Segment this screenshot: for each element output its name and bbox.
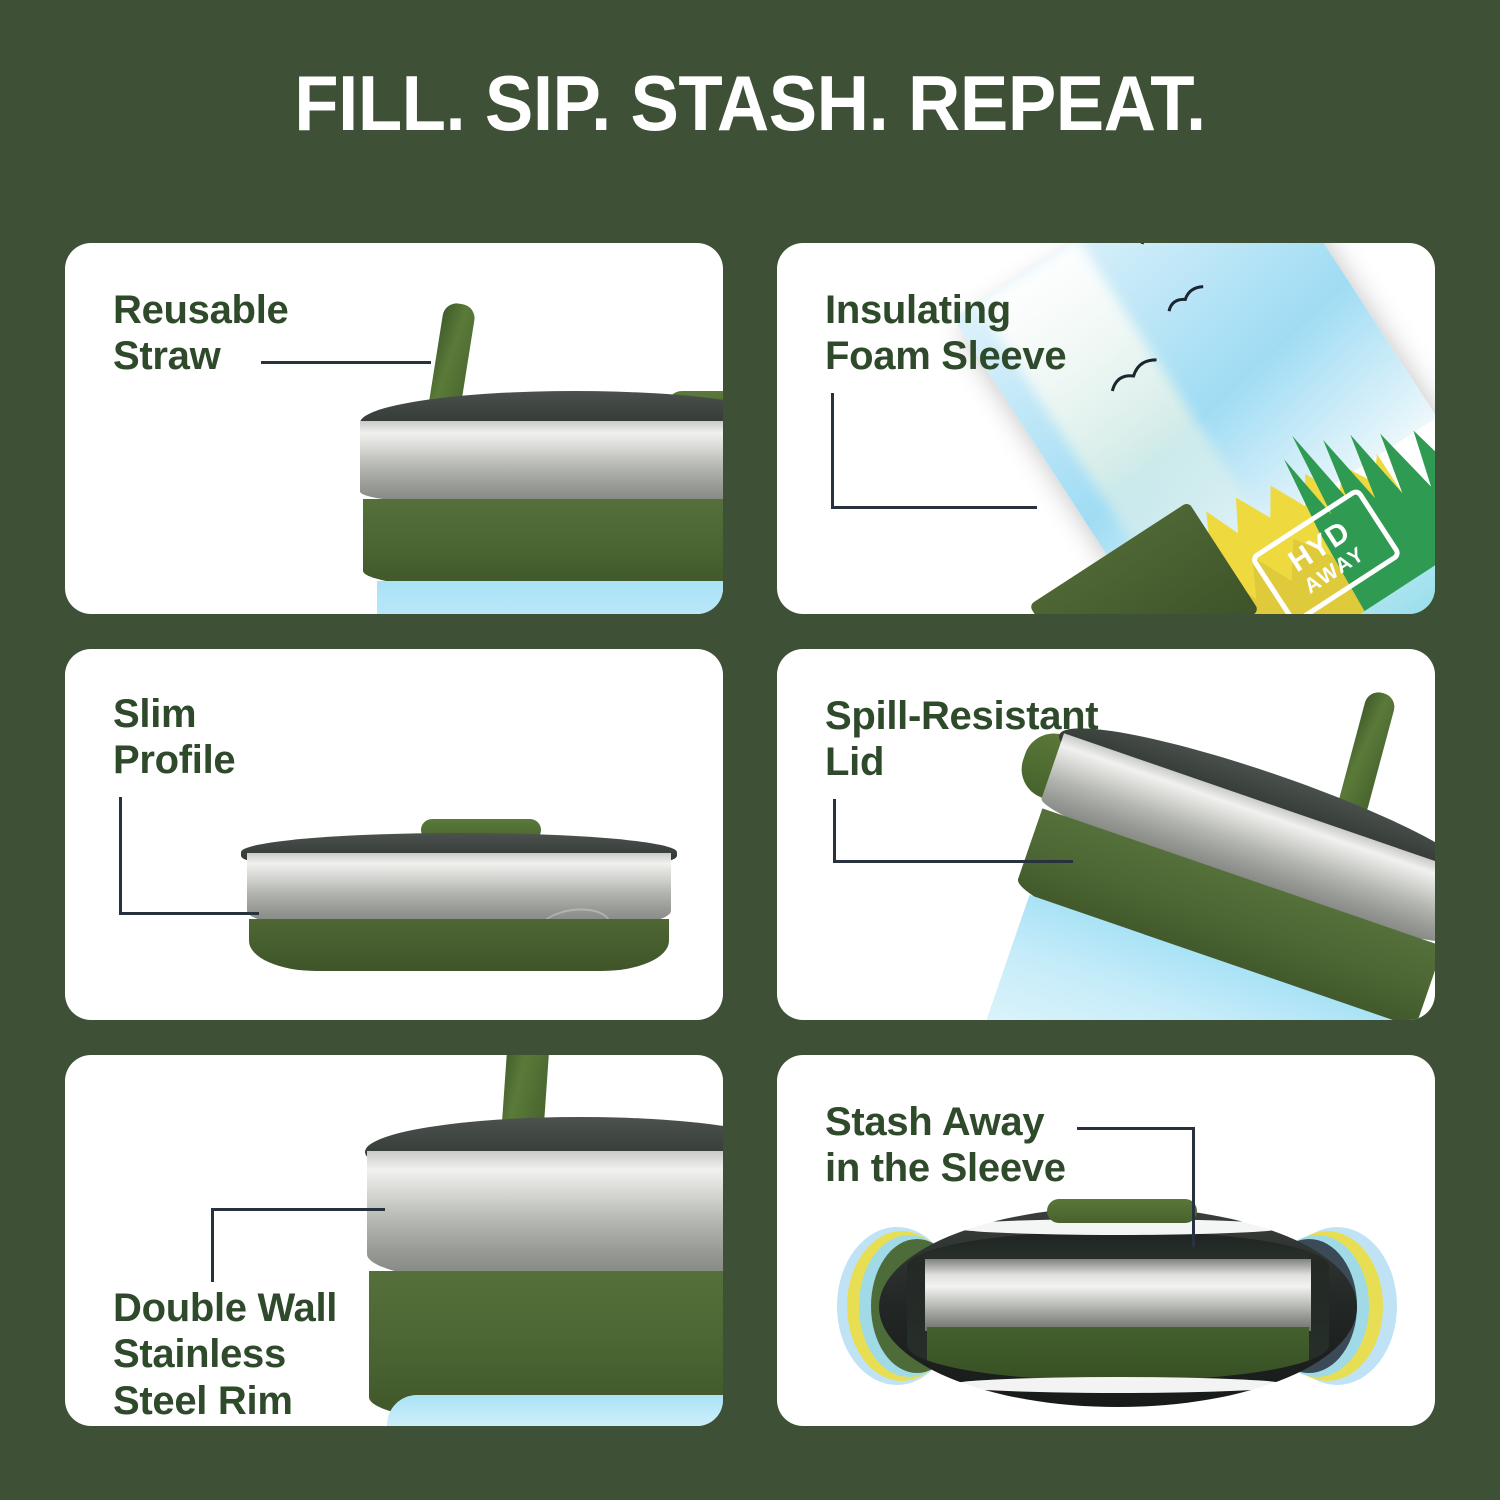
green-base xyxy=(927,1327,1309,1381)
steel-rim-band xyxy=(367,1151,723,1283)
feature-card-spill-resistant-lid[interactable]: Spill-Resistant Lid xyxy=(777,649,1435,1020)
steel-rim-band xyxy=(925,1259,1311,1331)
feature-card-insulating-foam-sleeve[interactable]: HYD AWAY Insulating Foam Sleeve xyxy=(777,243,1435,614)
tumbler-body xyxy=(387,1395,723,1426)
collapsed-puck xyxy=(907,1231,1329,1381)
feature-card-reusable-straw[interactable]: Reusable Straw xyxy=(65,243,723,614)
feature-label-stash-away-sleeve: Stash Away in the Sleeve xyxy=(825,1099,1066,1192)
product-feature-infographic: FILL. SIP. STASH. REPEAT. Reu xyxy=(0,0,1500,1500)
leader-line-spill-resistant-lid xyxy=(833,799,1073,863)
steel-rim-band xyxy=(360,421,723,507)
feature-label-double-wall-rim: Double Wall Stainless Steel Rim xyxy=(113,1285,337,1424)
feature-label-slim-profile: Slim Profile xyxy=(113,691,235,784)
green-collar xyxy=(363,499,723,591)
feature-card-stash-away-sleeve[interactable]: Stash Away in the Sleeve xyxy=(777,1055,1435,1426)
collapsed-puck xyxy=(241,819,677,965)
steel-rim-band xyxy=(247,853,671,927)
green-base xyxy=(249,919,669,971)
leader-line-insulating-foam-sleeve xyxy=(831,393,1037,509)
page-title: FILL. SIP. STASH. REPEAT. xyxy=(53,58,1448,149)
tumbler-body xyxy=(377,581,723,614)
leader-line-double-wall-rim xyxy=(211,1208,385,1282)
feature-label-insulating-foam-sleeve: Insulating Foam Sleeve xyxy=(825,287,1066,380)
feature-card-slim-profile[interactable]: Slim Profile xyxy=(65,649,723,1020)
feature-card-grid: Reusable Straw xyxy=(65,243,1435,1428)
feature-card-double-wall-rim[interactable]: Double Wall Stainless Steel Rim xyxy=(65,1055,723,1426)
sleeve-opening-bottom xyxy=(949,1377,1289,1393)
leader-line-stash-away-sleeve xyxy=(1077,1127,1195,1247)
feature-label-spill-resistant-lid: Spill-Resistant Lid xyxy=(825,693,1098,786)
leader-line-reusable-straw xyxy=(261,361,431,367)
leader-line-slim-profile xyxy=(119,797,259,915)
